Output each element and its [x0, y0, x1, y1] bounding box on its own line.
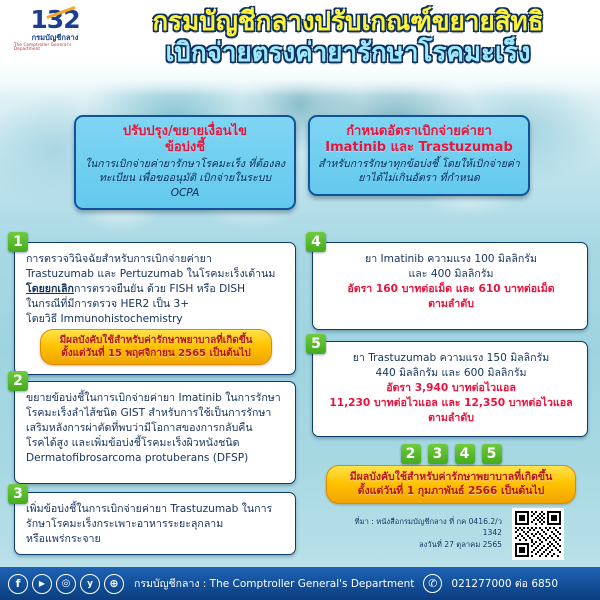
item-4-rate-line-1: อัตรา 160 บาทต่อเม็ด และ 610 บาทต่อเม็ด: [324, 282, 578, 297]
item-1-line-4: ในกรณีที่มีการตรวจ HER2 เป็น 3+: [26, 297, 286, 312]
facebook-icon[interactable]: f: [8, 574, 28, 594]
item-card-3-text: เพิ่มข้อบ่งชี้ในการเบิกจ่ายค่ายา Trastuz…: [15, 493, 295, 554]
summary-box-right-title: กำหนดอัตราเบิกจ่ายค่ายา Imatinib และ Tra…: [318, 124, 520, 155]
effective-items-badge-row: 2 3 4 5: [328, 444, 574, 464]
item-1-ribbon-line-1: มีผลบังคับใช้สำหรับค่ารักษาพยาบาลที่เกิด…: [49, 334, 263, 347]
item-number-badge-5: 5: [306, 334, 326, 354]
summary-box-left-body: ในการเบิกจ่ายค่ายารักษาโรคมะเร็ง ที่ต้อง…: [84, 157, 286, 200]
item-2-line-1: ขยายข้อบ่งชี้ในการเบิกจ่ายค่ายา Imatinib…: [26, 391, 286, 406]
item-card-2-text: ขยายข้อบ่งชี้ในการเบิกจ่ายค่ายา Imatinib…: [15, 382, 295, 473]
summary-box-left-title-line-1: ปรับปรุง/ขยายเงื่อนไข: [123, 124, 247, 139]
effective-badge-5: 5: [482, 444, 502, 464]
infographic-poster: 132 กรมบัญชีกลาง The Comptroller General…: [0, 0, 600, 600]
footer-phone-number: 021277000 ต่อ 6850: [451, 575, 558, 592]
item-4-rate-line-2: ตามลำดับ: [324, 297, 578, 312]
item-card-5-text: ยา Trastuzumab ความแรง 150 มิลลิกรัม 440…: [313, 342, 587, 433]
item-5-line-2: 440 มิลลิกรัม และ 600 มิลลิกรัม: [324, 366, 578, 381]
website-icon[interactable]: ⊕: [104, 574, 124, 594]
youtube-icon[interactable]: ▶: [32, 574, 52, 594]
page-title-line-2: เบิกจ่ายตรงค่ายารักษาโรคมะเร็ง: [100, 39, 596, 67]
effective-ribbon-line-1: มีผลบังคับใช้สำหรับค่ารักษาพยาบาลที่เกิด…: [335, 471, 567, 485]
effective-ribbon-line-2: ตั้งแต่วันที่ 1 กุมภาพันธ์ 2566 เป็นต้นไ…: [335, 485, 567, 499]
page-title-line-1: กรมบัญชีกลางปรับเกณฑ์ขยายสิทธิ: [100, 8, 596, 36]
source-line-2: ลงวันที่ 27 ตุลาคม 2565: [336, 539, 502, 550]
item-card-2: ขยายข้อบ่งชี้ในการเบิกจ่ายค่ายา Imatinib…: [14, 381, 296, 484]
logo-mark: 132: [30, 7, 79, 32]
item-3-line-2: รักษาโรคมะเร็งกระเพาะอาหารระยะลุกลาม: [26, 517, 286, 532]
logo-thai-name: กรมบัญชีกลาง: [32, 34, 79, 42]
item-1-effective-ribbon: มีผลบังคับใช้สำหรับค่ารักษาพยาบาลที่เกิด…: [40, 329, 272, 365]
logo-english-name: The Comptroller General's Department: [14, 43, 96, 51]
effective-badge-3: 3: [428, 444, 448, 464]
item-4-line-1: ยา Imatinib ความแรง 100 มิลลิกรัม: [324, 252, 578, 267]
item-1-line-3: โดยยกเลิกการตรวจยืนยัน ด้วย FISH หรือ DI…: [26, 282, 286, 297]
item-number-badge-2: 2: [8, 371, 28, 391]
page-title: กรมบัญชีกลางปรับเกณฑ์ขยายสิทธิ เบิกจ่ายต…: [100, 8, 596, 67]
source-note: ที่มา : หนังสือกรมบัญชีกลาง ที่ กค 0416.…: [336, 516, 502, 550]
source-line-1: ที่มา : หนังสือกรมบัญชีกลาง ที่ กค 0416.…: [336, 516, 502, 539]
item-1-line-5: โดยวิธี Immunohistochemistry: [26, 312, 286, 327]
item-number-badge-1: 1: [8, 232, 28, 252]
item-4-line-2: และ 400 มิลลิกรัม: [324, 267, 578, 282]
summary-box-right-body: สำหรับการรักษาทุกข้อบ่งชี้ โดยให้เบิกจ่า…: [318, 157, 520, 186]
item-number-badge-4: 4: [306, 232, 326, 252]
item-card-4-text: ยา Imatinib ความแรง 100 มิลลิกรัม และ 40…: [313, 243, 587, 319]
effective-badge-2: 2: [401, 444, 421, 464]
phone-icon: ✆: [423, 574, 442, 593]
item-1-line-2: Trastuzumab และ Pertuzumab ในโรคมะเร็งเต…: [26, 267, 286, 282]
item-2-line-3: เสริมหลังการผ่าตัดที่พบว่ามีโอกาสของการก…: [26, 421, 286, 436]
item-5-rate-line-1: อัตรา 3,940 บาทต่อไวแอล: [324, 381, 578, 396]
summary-box-rates: กำหนดอัตราเบิกจ่ายค่ายา Imatinib และ Tra…: [308, 115, 530, 196]
effective-badge-4: 4: [455, 444, 475, 464]
item-1-ribbon-line-2: ตั้งแต่วันที่ 15 พฤศจิกายน 2565 เป็นต้นไ…: [49, 347, 263, 360]
summary-box-right-title-line-1: กำหนดอัตราเบิกจ่ายค่ายา: [346, 124, 492, 139]
item-card-1-text: การตรวจวินิจฉัยสำหรับการเบิกจ่ายค่ายา Tr…: [15, 243, 295, 372]
twitter-icon[interactable]: y: [80, 574, 100, 594]
item-5-rate-line-2: 11,230 บาทต่อไวแอล และ 12,350 บาทต่อไวแอ…: [324, 396, 578, 411]
effective-date-ribbon: มีผลบังคับใช้สำหรับค่ารักษาพยาบาลที่เกิด…: [326, 465, 576, 504]
item-1-emphasis: โดยยกเลิก: [26, 283, 74, 295]
item-5-rate-line-3: ตามลำดับ: [324, 411, 578, 426]
item-card-1: การตรวจวินิจฉัยสำหรับการเบิกจ่ายค่ายา Tr…: [14, 242, 296, 375]
footer-agency-name: กรมบัญชีกลาง : The Comptroller General's…: [134, 575, 414, 592]
qr-code-graphic: [515, 511, 561, 557]
item-2-line-2: โรคมะเร็งลำไส้ชนิด GIST สำหรับการใช้เป็น…: [26, 406, 286, 421]
item-number-badge-3: 3: [8, 484, 28, 504]
qr-code[interactable]: [512, 508, 564, 560]
item-2-line-5: Dermatofibrosarcoma protuberans (DFSP): [26, 451, 286, 466]
item-card-4: ยา Imatinib ความแรง 100 มิลลิกรัม และ 40…: [312, 242, 588, 330]
summary-box-left-title-line-2: ข้อบ่งชี้: [84, 140, 286, 156]
instagram-icon[interactable]: ◎: [56, 574, 76, 594]
agency-logo: 132 กรมบัญชีกลาง The Comptroller General…: [14, 6, 96, 52]
summary-box-right-title-line-2: Imatinib และ Trastuzumab: [318, 140, 520, 156]
item-2-line-4: โรคได้สูง และเพิ่มข้อบ่งชี้โรคมะเร็งผิวห…: [26, 436, 286, 451]
summary-box-left-title: ปรับปรุง/ขยายเงื่อนไข ข้อบ่งชี้: [84, 124, 286, 155]
footer-bar: f ▶ ◎ y ⊕ กรมบัญชีกลาง : The Comptroller…: [0, 567, 600, 600]
item-3-line-3: หรือแพร่กระจาย: [26, 532, 286, 547]
item-3-line-1: เพิ่มข้อบ่งชี้ในการเบิกจ่ายค่ายา Trastuz…: [26, 502, 286, 517]
summary-box-conditions: ปรับปรุง/ขยายเงื่อนไข ข้อบ่งชี้ ในการเบิ…: [74, 115, 296, 210]
item-card-5: ยา Trastuzumab ความแรง 150 มิลลิกรัม 440…: [312, 341, 588, 437]
item-1-line-1: การตรวจวินิจฉัยสำหรับการเบิกจ่ายค่ายา: [26, 252, 286, 267]
item-card-3: เพิ่มข้อบ่งชี้ในการเบิกจ่ายค่ายา Trastuz…: [14, 492, 296, 555]
item-5-line-1: ยา Trastuzumab ความแรง 150 มิลลิกรัม: [324, 351, 578, 366]
